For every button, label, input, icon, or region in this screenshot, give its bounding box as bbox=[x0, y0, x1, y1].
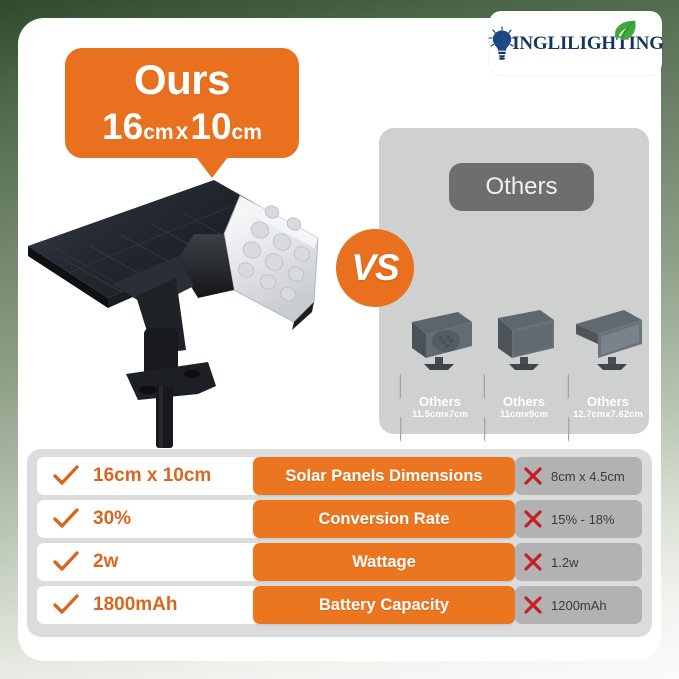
comparison-table: 16cm x 10cm Solar Panels Dimensions 8cm … bbox=[27, 449, 652, 637]
ours-badge-title: Ours bbox=[134, 59, 230, 101]
competitor-size-0: 11.5cmx7cm bbox=[400, 409, 480, 420]
competitor-size-1: 11cmx9cm bbox=[484, 409, 564, 420]
check-icon bbox=[53, 508, 79, 530]
feature-text-0: Solar Panels Dimensions bbox=[285, 467, 482, 486]
leaf-icon bbox=[612, 19, 638, 46]
ours-badge-dimensions: 16cmx10cm bbox=[102, 108, 262, 145]
ours-badge: Ours 16cmx10cm bbox=[65, 48, 299, 158]
competitor-light-photo bbox=[400, 359, 480, 376]
competitor-product-2: Others 12.7cmx7.62cm bbox=[568, 300, 648, 438]
solar-spotlight-photo bbox=[26, 178, 336, 448]
brand-logo: INGLILIGHTING bbox=[489, 11, 662, 75]
ours-value-1: 30% bbox=[93, 508, 131, 530]
others-value-1: 15% - 18% bbox=[551, 512, 615, 527]
others-badge: Others bbox=[449, 163, 594, 211]
competitor-label-2: Others 12.7cmx7.62cm bbox=[568, 374, 648, 441]
competitor-light-photo bbox=[484, 359, 564, 376]
competitor-size-2: 12.7cmx7.62cm bbox=[568, 409, 648, 420]
others-cell-2: 1.2w bbox=[515, 543, 642, 581]
ours-height-unit: cm bbox=[232, 121, 262, 144]
others-value-2: 1.2w bbox=[551, 555, 578, 570]
feature-text-3: Battery Capacity bbox=[319, 596, 449, 615]
ours-value-2: 2w bbox=[93, 551, 118, 573]
ours-dim-separator: x bbox=[176, 118, 189, 144]
competitor-name-2: Others bbox=[568, 395, 648, 409]
check-icon bbox=[53, 594, 79, 616]
vs-label: VS bbox=[351, 247, 398, 289]
table-row: 16cm x 10cm Solar Panels Dimensions 8cm … bbox=[37, 457, 642, 495]
competitor-product-0: Others 11.5cmx7cm bbox=[400, 300, 480, 438]
feature-label-2: Wattage bbox=[253, 543, 515, 581]
feature-label-0: Solar Panels Dimensions bbox=[253, 457, 515, 495]
competitor-light-photo bbox=[568, 359, 648, 376]
cross-icon bbox=[523, 466, 543, 486]
table-row: 1800mAh Battery Capacity 1200mAh bbox=[37, 586, 642, 624]
competitor-name-0: Others bbox=[400, 395, 480, 409]
competitor-name-1: Others bbox=[484, 395, 564, 409]
ours-width-unit: cm bbox=[143, 121, 173, 144]
brand-name: INGLILIGHTING bbox=[512, 34, 664, 53]
feature-label-1: Conversion Rate bbox=[253, 500, 515, 538]
feature-text-2: Wattage bbox=[352, 553, 416, 572]
cross-icon bbox=[523, 552, 543, 572]
table-row: 2w Wattage 1.2w bbox=[37, 543, 642, 581]
vs-badge: VS bbox=[336, 229, 414, 307]
check-icon bbox=[53, 465, 79, 487]
ours-value-3: 1800mAh bbox=[93, 594, 178, 616]
infographic-canvas: INGLILIGHTING Ours 16cmx10cm bbox=[0, 0, 679, 679]
others-cell-1: 15% - 18% bbox=[515, 500, 642, 538]
feature-label-3: Battery Capacity bbox=[253, 586, 515, 624]
cross-icon bbox=[523, 595, 543, 615]
ours-width-value: 16 bbox=[102, 106, 143, 147]
competitor-label-1: Others 11cmx9cm bbox=[484, 374, 564, 441]
lightbulb-icon bbox=[487, 26, 517, 60]
others-value-3: 1200mAh bbox=[551, 598, 607, 613]
table-row: 30% Conversion Rate 15% - 18% bbox=[37, 500, 642, 538]
competitor-product-1: Others 11cmx9cm bbox=[484, 300, 564, 438]
badge-pointer-tail bbox=[196, 157, 228, 178]
others-cell-0: 8cm x 4.5cm bbox=[515, 457, 642, 495]
ours-value-0: 16cm x 10cm bbox=[93, 465, 211, 487]
check-icon bbox=[53, 551, 79, 573]
feature-text-1: Conversion Rate bbox=[318, 510, 449, 529]
ours-height-value: 10 bbox=[190, 106, 231, 147]
others-cell-3: 1200mAh bbox=[515, 586, 642, 624]
cross-icon bbox=[523, 509, 543, 529]
others-value-0: 8cm x 4.5cm bbox=[551, 469, 625, 484]
competitor-label-0: Others 11.5cmx7cm bbox=[400, 374, 480, 441]
others-badge-label: Others bbox=[485, 173, 557, 201]
